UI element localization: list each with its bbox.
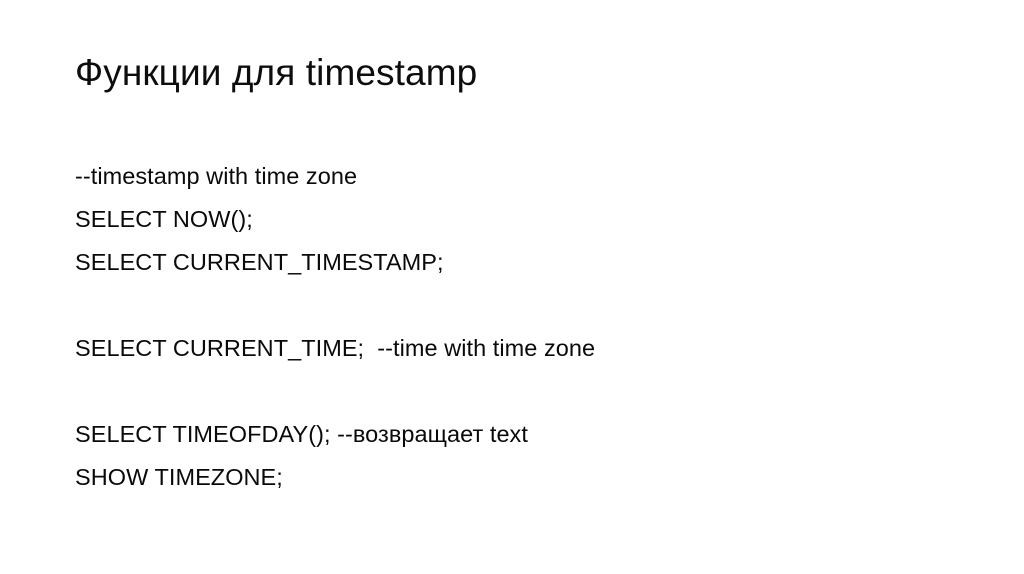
code-line: SELECT CURRENT_TIMESTAMP; [75, 241, 975, 284]
code-line: SELECT CURRENT_TIME; --time with time zo… [75, 327, 975, 370]
code-line-blank [75, 284, 975, 327]
page-title: Функции для timestamp [75, 52, 955, 93]
code-line-blank [75, 370, 975, 413]
slide-body-text: --timestamp with time zone SELECT NOW();… [75, 155, 975, 499]
code-line: SELECT TIMEOFDAY(); --возвращает text [75, 413, 975, 456]
code-line: --timestamp with time zone [75, 155, 975, 198]
code-line: SELECT NOW(); [75, 198, 975, 241]
presentation-slide: Функции для timestamp --timestamp with t… [0, 0, 1024, 574]
code-line: SHOW TIMEZONE; [75, 456, 975, 499]
